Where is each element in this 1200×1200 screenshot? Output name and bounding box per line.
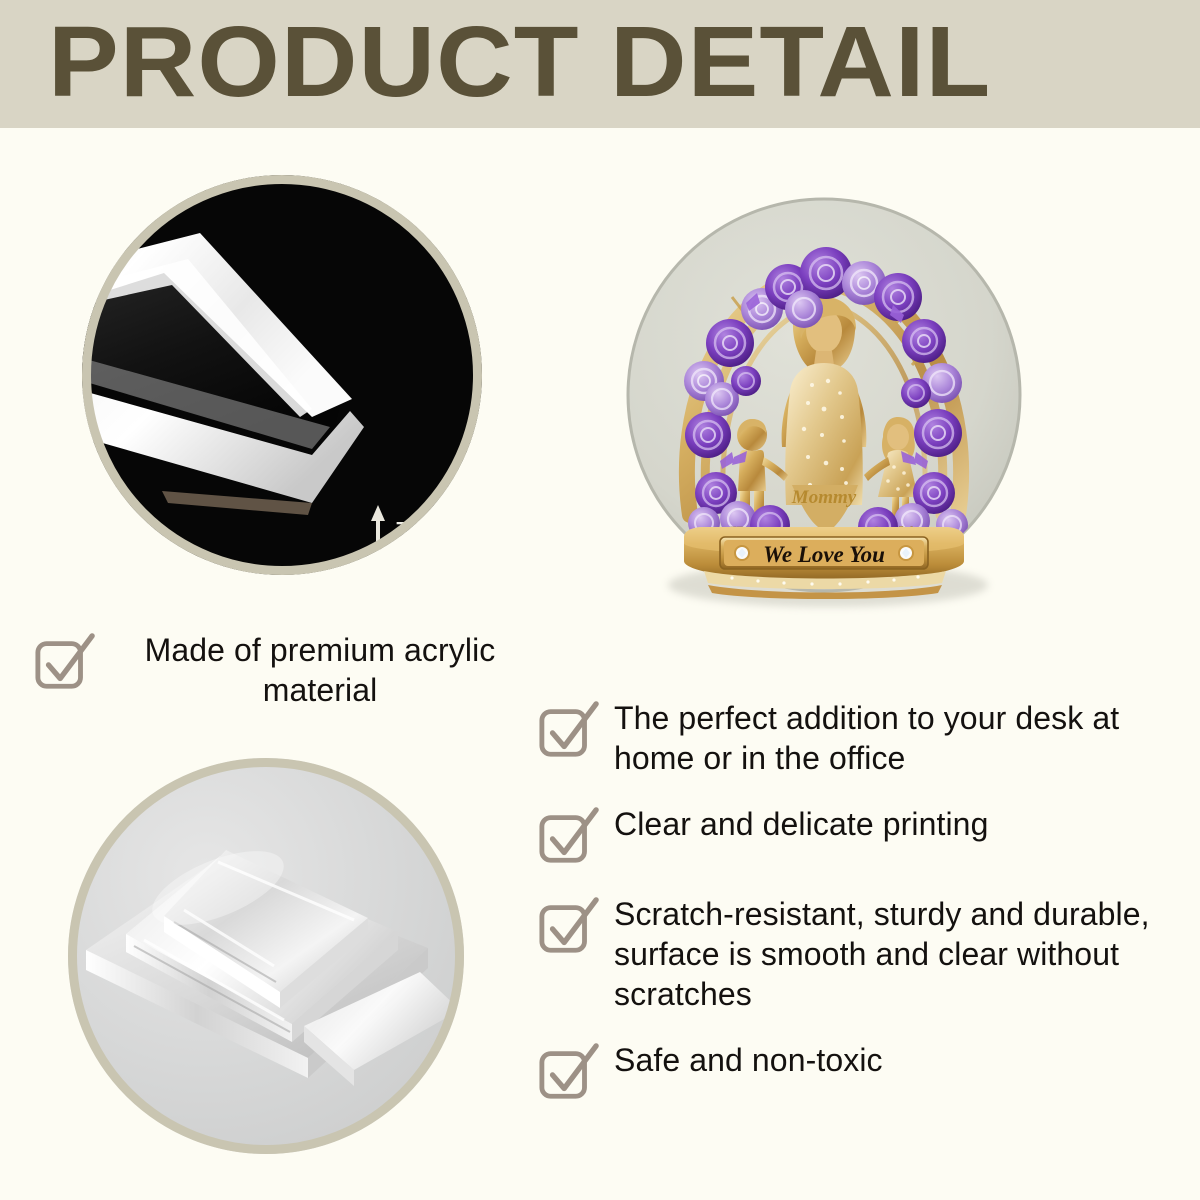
- gem-right: [898, 545, 914, 561]
- page-title: PRODUCT DETAIL: [48, 6, 991, 118]
- feature-desk-addition: The perfect addition to your desk at hom…: [538, 698, 1186, 778]
- feature-premium-acrylic: Made of premium acrylic material: [34, 630, 554, 710]
- thickness-callout: Thickness 0.55 in: [370, 505, 482, 575]
- thickness-value: 0.55 in: [396, 551, 482, 575]
- checkmark-icon: [538, 806, 600, 868]
- feature-label: Safe and non-toxic: [614, 1040, 883, 1080]
- feature-safe-non-toxic: Safe and non-toxic: [538, 1040, 1186, 1104]
- feature-clear-printing: Clear and delicate printing: [538, 804, 1186, 868]
- feature-label: Scratch-resistant, sturdy and durable, s…: [614, 894, 1186, 1014]
- engraved-name-mother: Mommy: [791, 487, 857, 508]
- checkmark-icon: [538, 1042, 600, 1104]
- acrylic-sheets-illustration: [68, 758, 464, 1154]
- personalized-acrylic-plaque: Mommy Henry Sophia We Love You: [612, 185, 1042, 625]
- feature-label: Clear and delicate printing: [614, 804, 988, 844]
- checkmark-icon: [34, 632, 96, 694]
- checkmark-icon: [538, 700, 600, 762]
- feature-label: The perfect addition to your desk at hom…: [614, 698, 1186, 778]
- feature-scratch-resistant: Scratch-resistant, sturdy and durable, s…: [538, 894, 1186, 1014]
- base-message: We Love You: [763, 542, 885, 567]
- gem-left: [734, 545, 750, 561]
- acrylic-edge-macro-photo: Thickness 0.55 in: [82, 175, 482, 575]
- product-illustration: Mommy Henry Sophia We Love You: [612, 185, 1042, 625]
- feature-list: The perfect addition to your desk at hom…: [538, 698, 1186, 1130]
- thickness-label: Thickness: [396, 515, 482, 551]
- vertical-dimension-arrow: [370, 505, 386, 575]
- stacked-acrylic-sheets-photo: [68, 758, 464, 1154]
- feature-label: Made of premium acrylic material: [110, 630, 530, 710]
- checkmark-icon: [538, 896, 600, 958]
